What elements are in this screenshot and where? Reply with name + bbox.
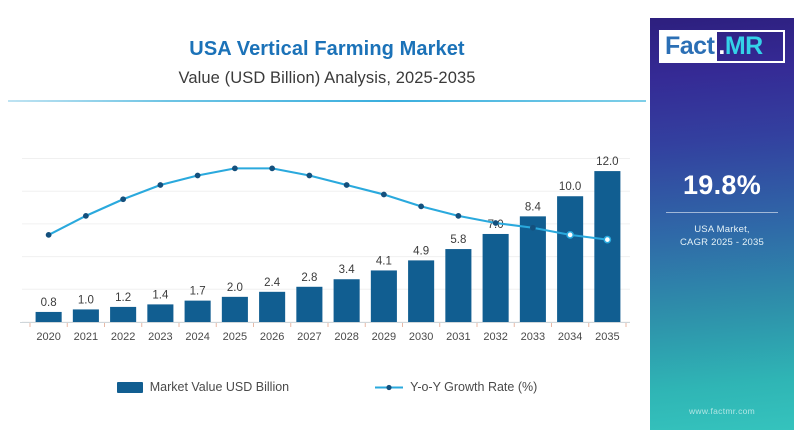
bar-2029[interactable] <box>371 270 397 322</box>
growth-point-2035[interactable] <box>604 237 610 243</box>
bar-value-label-2035: 12.0 <box>596 156 618 168</box>
x-axis-label-2028: 2028 <box>334 331 358 343</box>
growth-point-2031[interactable] <box>455 213 461 219</box>
x-axis-label-2029: 2029 <box>372 331 396 343</box>
bar-value-label-2030: 4.9 <box>413 245 429 257</box>
bar-value-label-2026: 2.4 <box>264 277 281 289</box>
growth-point-2023[interactable] <box>157 182 163 188</box>
legend-label-growth-rate: Y-o-Y Growth Rate (%) <box>410 380 537 394</box>
x-axis-label-2032: 2032 <box>483 331 507 343</box>
bar-value-label-2033: 8.4 <box>525 201 542 213</box>
bar-2030[interactable] <box>408 260 434 322</box>
page-subtitle: Value (USD Billion) Analysis, 2025-2035 <box>8 61 646 88</box>
infographic-root: USA Vertical Farming Market Value (USD B… <box>0 0 800 448</box>
bar-2026[interactable] <box>259 292 285 322</box>
legend-bar-swatch-icon <box>117 382 143 393</box>
growth-point-2030[interactable] <box>418 203 424 209</box>
cagr-stat-block: 19.8% USA Market, CAGR 2025 - 2035 <box>650 170 794 249</box>
bar-2027[interactable] <box>296 287 322 322</box>
growth-point-2025[interactable] <box>232 165 238 171</box>
chart-plot-area: 0.81.01.21.41.72.02.42.83.44.14.95.87.08… <box>8 110 646 352</box>
growth-point-2033[interactable] <box>530 225 536 231</box>
bar-value-label-2021: 1.0 <box>78 294 94 306</box>
bar-2023[interactable] <box>147 304 173 322</box>
bar-value-label-2027: 2.8 <box>301 272 317 284</box>
bar-value-label-2024: 1.7 <box>190 286 206 298</box>
logo-text-mr: .MR <box>717 32 783 61</box>
bar-2020[interactable] <box>36 312 62 322</box>
bar-2032[interactable] <box>483 234 509 322</box>
x-axis-label-2035: 2035 <box>595 331 619 343</box>
bar-value-label-2025: 2.0 <box>227 282 243 294</box>
growth-point-2026[interactable] <box>269 165 275 171</box>
x-axis-label-2022: 2022 <box>111 331 135 343</box>
cagr-caption-line-2: CAGR 2025 - 2035 <box>650 236 794 249</box>
growth-point-2032[interactable] <box>493 220 499 226</box>
x-axis-label-2034: 2034 <box>558 331 582 343</box>
website-url: www.factmr.com <box>650 406 794 416</box>
growth-point-2029[interactable] <box>381 192 387 198</box>
growth-point-2024[interactable] <box>195 173 201 179</box>
x-axis-label-2026: 2026 <box>260 331 284 343</box>
growth-point-2034[interactable] <box>567 232 573 238</box>
bar-value-label-2028: 3.4 <box>339 264 356 276</box>
stat-divider <box>666 212 778 213</box>
logo-mr-letters: MR <box>725 32 763 60</box>
x-axis-label-2031: 2031 <box>446 331 470 343</box>
bar-2033[interactable] <box>520 216 546 322</box>
growth-point-2021[interactable] <box>83 213 89 219</box>
logo-text-fact: Fact <box>661 32 717 61</box>
bar-value-label-2020: 0.8 <box>41 297 57 309</box>
legend-item-growth-rate[interactable]: Y-o-Y Growth Rate (%) <box>375 380 537 394</box>
cagr-value: 19.8% <box>650 170 794 201</box>
chart-header: USA Vertical Farming Market Value (USD B… <box>8 18 646 100</box>
legend-item-market-value[interactable]: Market Value USD Billion <box>117 380 289 394</box>
x-axis-label-2020: 2020 <box>36 331 60 343</box>
header-divider <box>8 100 646 102</box>
page-title: USA Vertical Farming Market <box>8 18 646 61</box>
cagr-caption: USA Market, CAGR 2025 - 2035 <box>650 223 794 249</box>
x-axis-label-2023: 2023 <box>148 331 172 343</box>
growth-point-2028[interactable] <box>344 182 350 188</box>
growth-point-2020[interactable] <box>46 232 52 238</box>
factmr-logo: Fact .MR <box>659 30 785 63</box>
growth-point-2022[interactable] <box>120 196 126 202</box>
x-axis-label-2030: 2030 <box>409 331 433 343</box>
bar-value-label-2034: 10.0 <box>559 181 581 193</box>
x-axis-label-2027: 2027 <box>297 331 321 343</box>
growth-point-2027[interactable] <box>306 173 312 179</box>
bar-value-label-2029: 4.1 <box>376 255 392 267</box>
combo-chart: 0.81.01.21.41.72.02.42.83.44.14.95.87.08… <box>8 110 646 352</box>
bar-2024[interactable] <box>185 301 211 322</box>
bar-2028[interactable] <box>334 279 360 322</box>
brand-side-panel: Fact .MR 19.8% USA Market, CAGR 2025 - 2… <box>650 18 794 430</box>
bar-2021[interactable] <box>73 309 99 322</box>
bar-value-label-2022: 1.2 <box>115 292 131 304</box>
bar-value-label-2031: 5.8 <box>450 234 466 246</box>
bar-value-label-2023: 1.4 <box>152 289 169 301</box>
chart-legend: Market Value USD Billion Y-o-Y Growth Ra… <box>8 374 646 400</box>
cagr-caption-line-1: USA Market, <box>650 223 794 236</box>
bar-2035[interactable] <box>594 171 620 322</box>
bar-2031[interactable] <box>445 249 471 322</box>
legend-label-market-value: Market Value USD Billion <box>150 380 289 394</box>
x-axis-label-2025: 2025 <box>223 331 247 343</box>
bar-2022[interactable] <box>110 307 136 322</box>
bar-2034[interactable] <box>557 196 583 322</box>
chart-card: USA Vertical Farming Market Value (USD B… <box>8 18 646 430</box>
x-axis-label-2024: 2024 <box>185 331 209 343</box>
x-axis-label-2033: 2033 <box>521 331 545 343</box>
legend-line-swatch-icon <box>375 382 403 393</box>
bar-2025[interactable] <box>222 297 248 322</box>
x-axis-label-2021: 2021 <box>74 331 98 343</box>
